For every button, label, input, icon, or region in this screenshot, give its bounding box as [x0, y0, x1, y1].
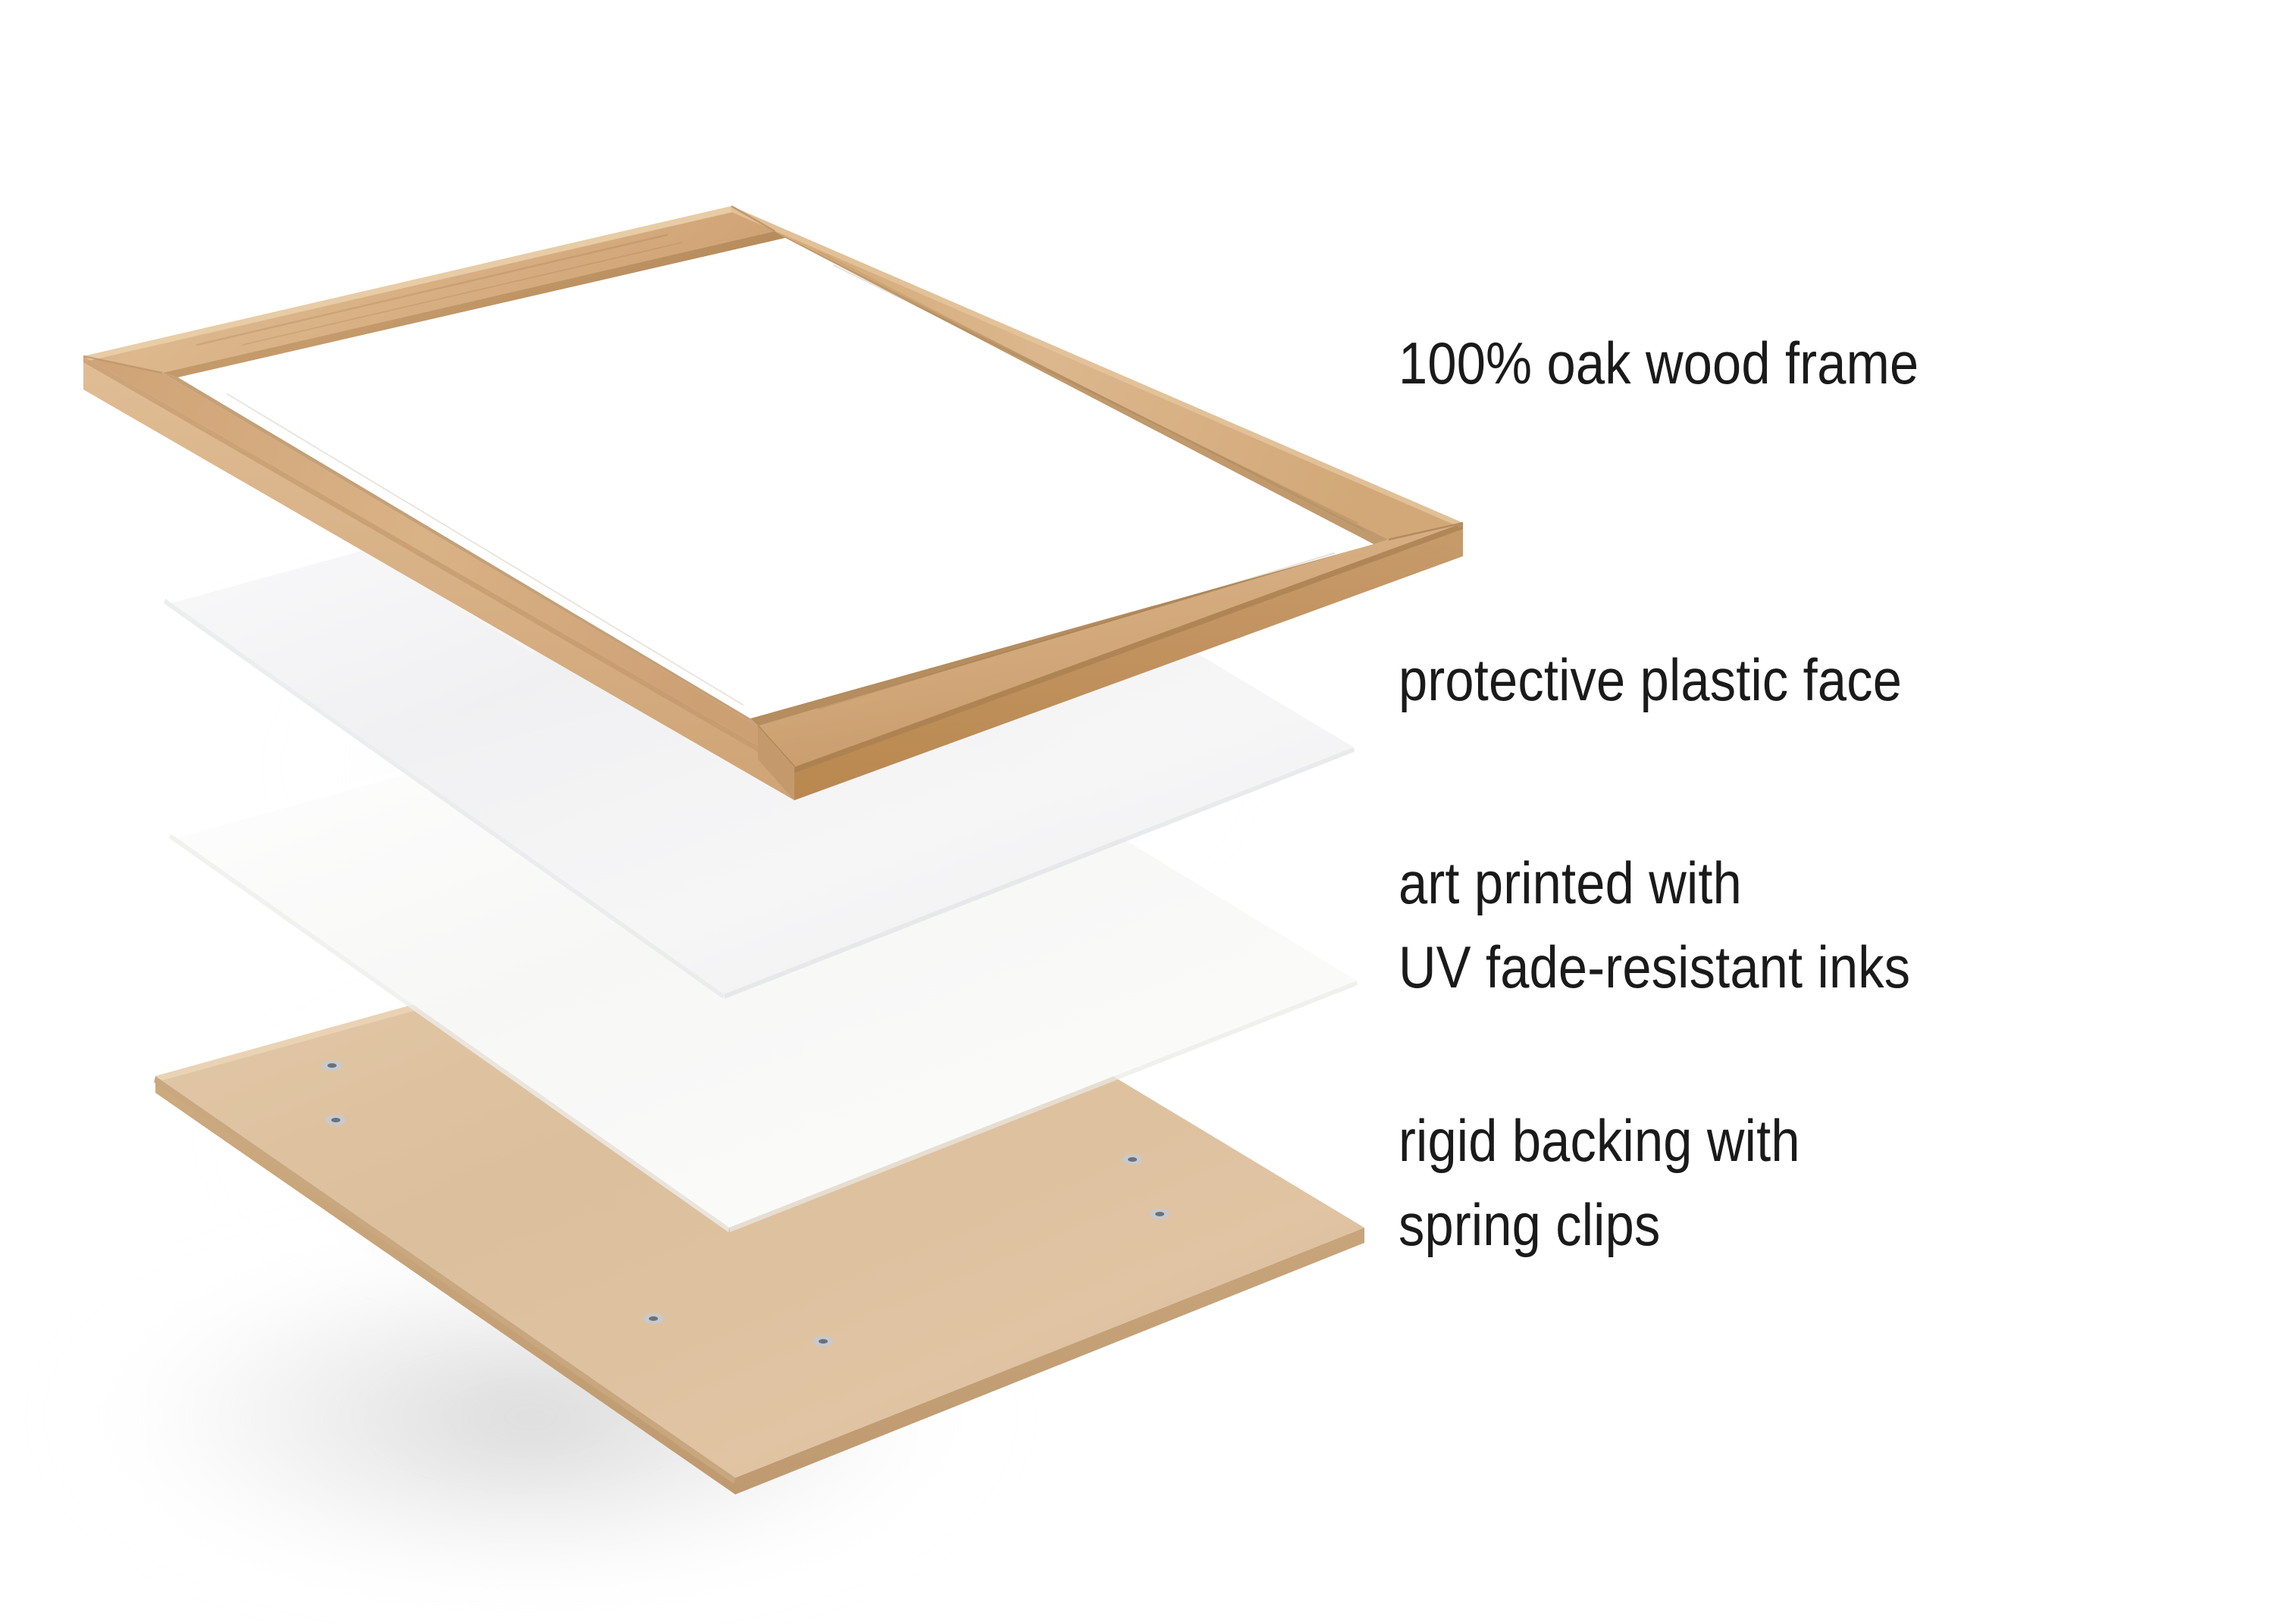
callout-label-backing-line2: spring clips	[1399, 1190, 1800, 1259]
callout-label-oak-frame: 100% oak wood frame	[1399, 328, 1918, 398]
exploded-diagram-canvas: 100% oak wood frame protective plastic f…	[0, 0, 2274, 1624]
callout-label-art-print-line2: UV fade-resistant inks	[1399, 932, 1910, 1002]
callout-backing-board: rigid backing with spring clips	[1399, 1091, 1855, 1274]
callout-label-backing-line1: rigid backing with	[1399, 1106, 1800, 1175]
callout-art-print: art printed with UV fade-resistant inks	[1399, 834, 1980, 1016]
callout-plastic-face: protective plastic face	[1399, 631, 1971, 729]
callout-oak-frame: 100% oak wood frame	[1399, 314, 1990, 412]
exploded-frame-illustration	[0, 0, 2274, 1624]
callout-label-plastic-face: protective plastic face	[1399, 645, 1902, 715]
callout-label-art-print-line1: art printed with	[1399, 848, 1910, 918]
